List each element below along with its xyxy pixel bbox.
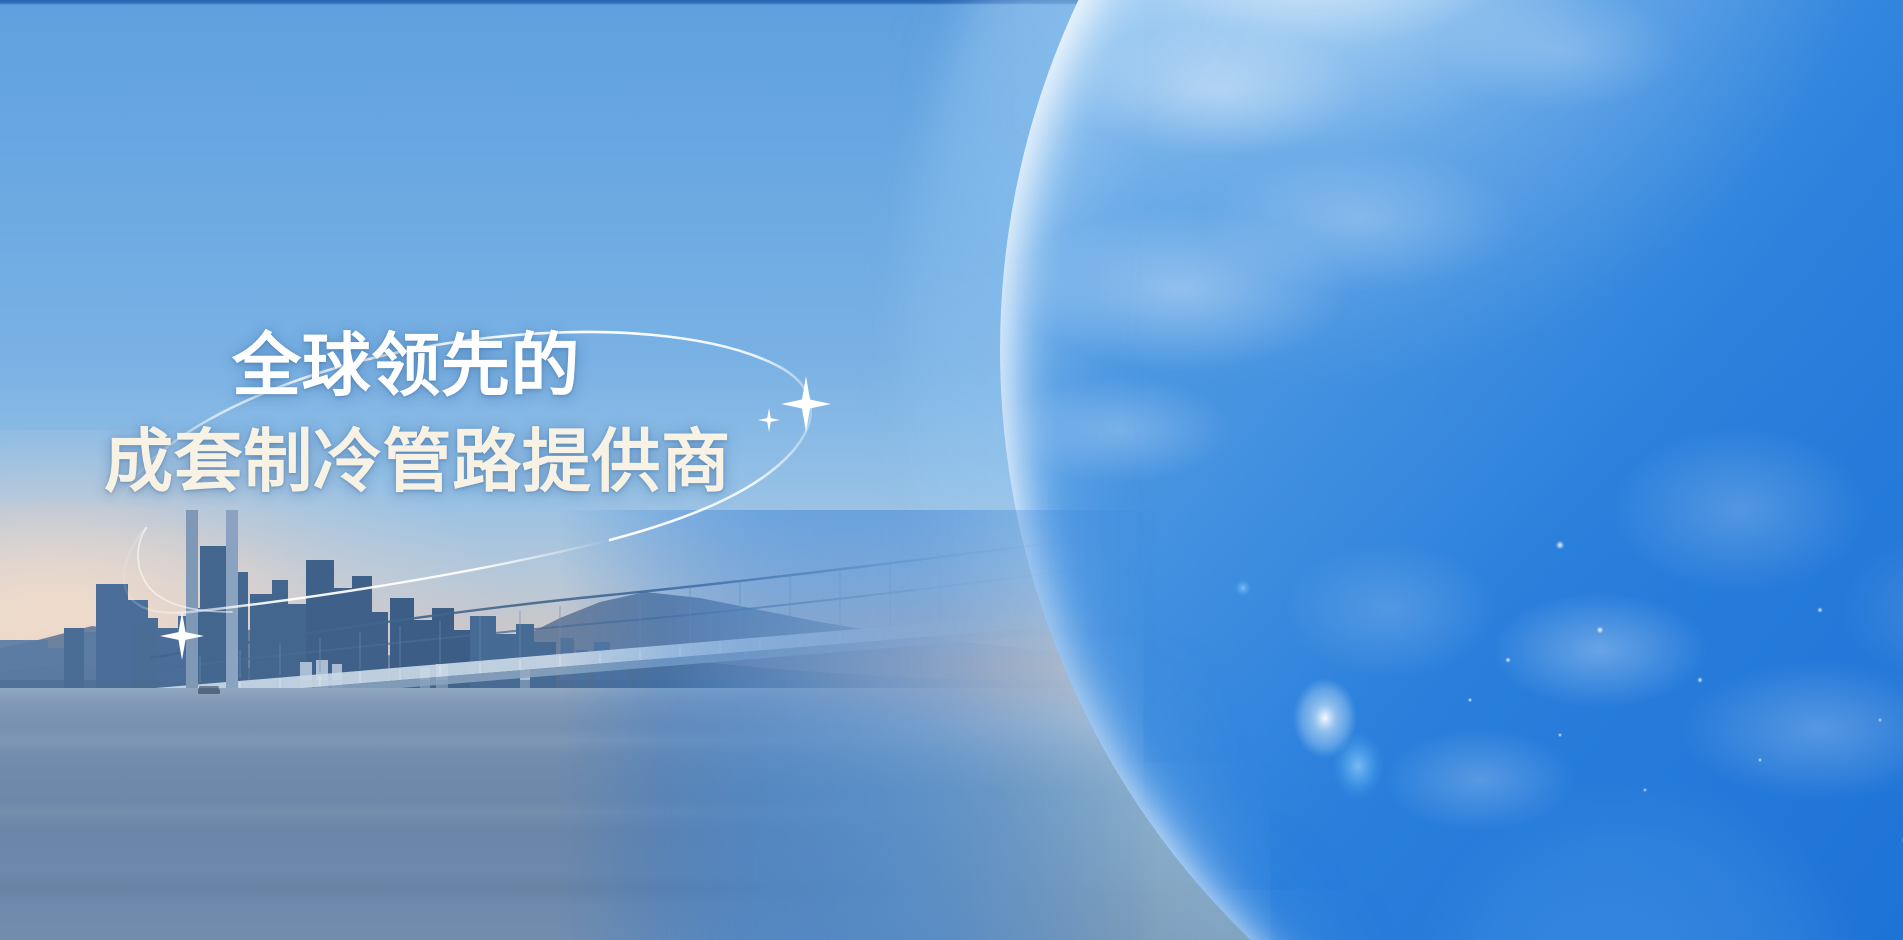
hero-banner: 全球领先的 成套制冷管路提供商 <box>0 0 1903 940</box>
headline-line-1: 全球领先的 <box>232 321 864 411</box>
headline-line-2: 成套制冷管路提供商 <box>104 417 864 507</box>
sparkle-star-left <box>159 611 205 661</box>
hero-headline: 全球领先的 成套制冷管路提供商 <box>104 321 864 506</box>
